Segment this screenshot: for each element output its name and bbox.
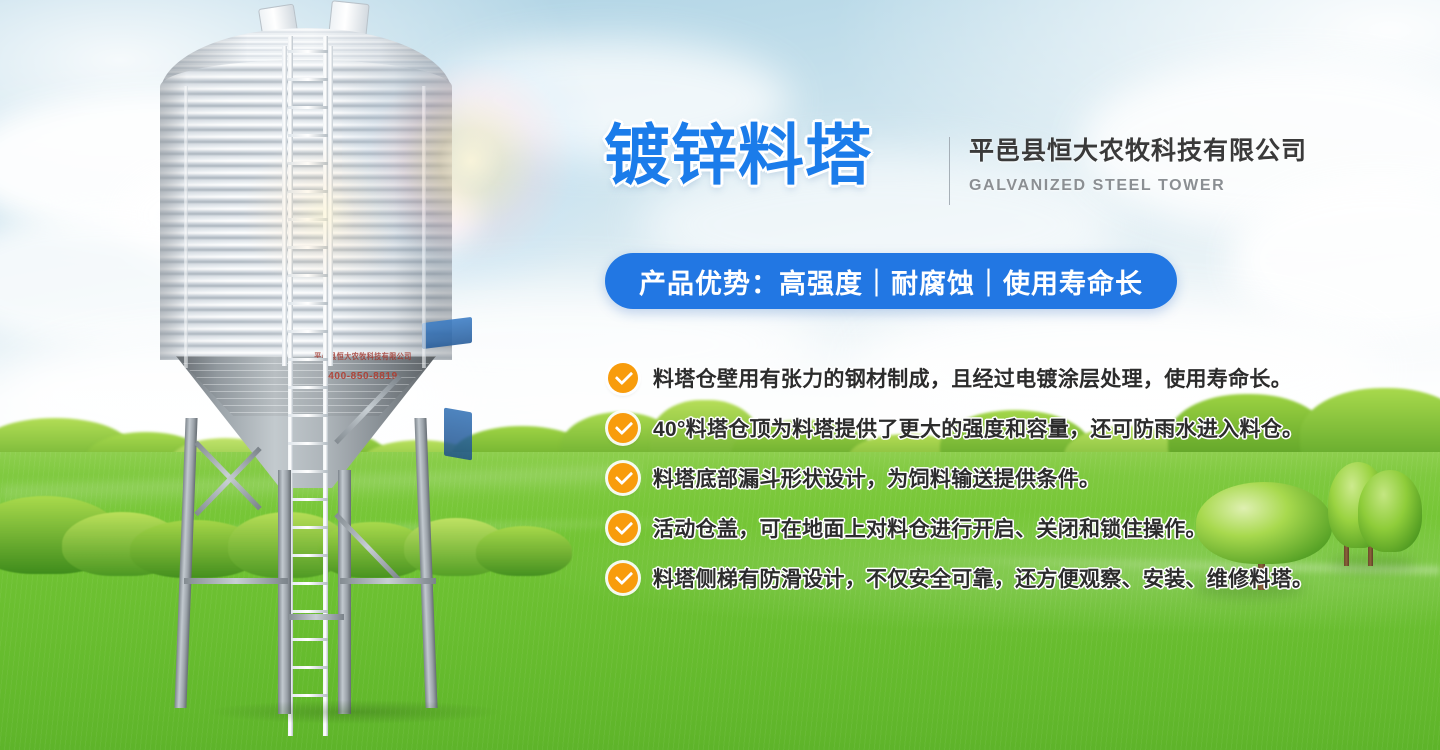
title-divider: [949, 137, 950, 205]
feature-item: 料塔侧梯有防滑设计，不仅安全可靠，还方便观察、安装、维修料塔。: [608, 560, 1313, 596]
feature-text: 料塔仓壁用有张力的钢材制成，且经过电镀涂层处理，使用寿命长。: [653, 363, 1292, 393]
check-circle-icon: [608, 463, 638, 493]
feature-text: 40°料塔仓顶为料塔提供了更大的强度和容量，还可防雨水进入料仓。: [653, 413, 1303, 443]
product-advantage-banner: 产品优势：高强度｜耐腐蚀｜使用寿命长: [605, 253, 1177, 309]
company-name-en: GALVANIZED STEEL TOWER: [969, 177, 1307, 195]
feature-item: 料塔仓壁用有张力的钢材制成，且经过电镀涂层处理，使用寿命长。: [608, 360, 1313, 396]
check-circle-icon: [608, 563, 638, 593]
feature-item: 活动仓盖，可在地面上对料仓进行开启、关闭和锁住操作。: [608, 510, 1313, 546]
hero-content: 镀锌料塔 平邑县恒大农牧科技有限公司 GALVANIZED STEEL TOWE…: [0, 0, 1440, 750]
company-name: 平邑县恒大农牧科技有限公司: [969, 138, 1307, 166]
product-advantage-text: 产品优势：高强度｜耐腐蚀｜使用寿命长: [639, 262, 1143, 301]
hero-banner: 平邑县恒大农牧科技有限公司 400-850-8819: [0, 0, 1440, 750]
check-circle-icon: [608, 363, 638, 393]
check-circle-icon: [608, 513, 638, 543]
page-title: 镀锌料塔: [604, 122, 872, 188]
company-block: 平邑县恒大农牧科技有限公司 GALVANIZED STEEL TOWER: [969, 138, 1307, 195]
feature-item: 料塔底部漏斗形状设计，为饲料输送提供条件。: [608, 460, 1313, 496]
feature-text: 料塔底部漏斗形状设计，为饲料输送提供条件。: [653, 463, 1100, 493]
feature-text: 活动仓盖，可在地面上对料仓进行开启、关闭和锁住操作。: [653, 513, 1207, 543]
feature-item: 40°料塔仓顶为料塔提供了更大的强度和容量，还可防雨水进入料仓。: [608, 410, 1313, 446]
feature-list: 料塔仓壁用有张力的钢材制成，且经过电镀涂层处理，使用寿命长。 40°料塔仓顶为料…: [608, 360, 1313, 610]
feature-text: 料塔侧梯有防滑设计，不仅安全可靠，还方便观察、安装、维修料塔。: [653, 563, 1313, 593]
title-row: 镀锌料塔: [604, 122, 872, 188]
check-circle-icon: [608, 413, 638, 443]
